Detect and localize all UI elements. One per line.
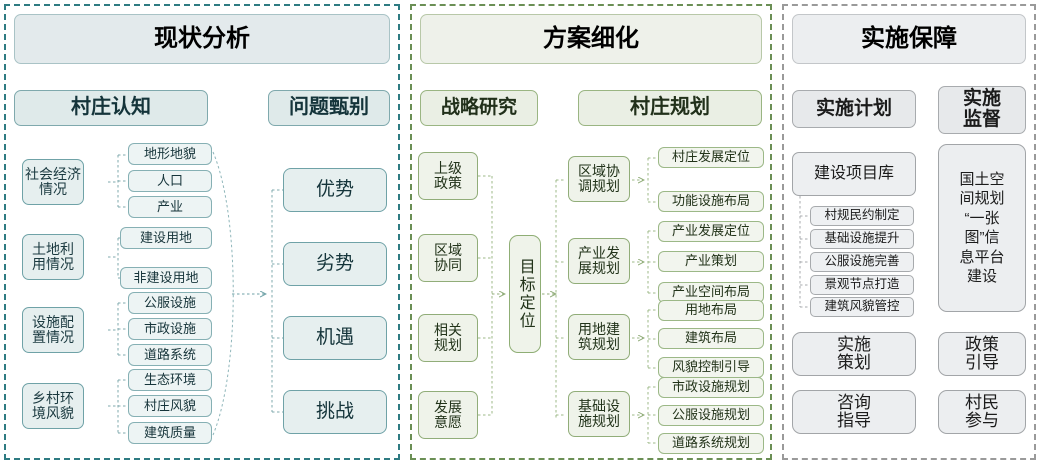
leaf-building-quality[interactable]: 建筑质量	[128, 422, 212, 444]
action-consulting-guidance[interactable]: 咨询 指导	[792, 390, 916, 434]
section-heading-strategy-research: 战略研究	[420, 90, 538, 126]
column-title-plan-refinement: 方案细化	[420, 14, 762, 64]
leaf-municipal-facility-planning[interactable]: 市政设施规划	[658, 377, 764, 398]
diagram-canvas: 现状分析 村庄认知 问题甄别 社会经济 情况 土地利 用情况 设施配 置情况 乡…	[0, 0, 1040, 467]
input-related-planning[interactable]: 相关 规划	[418, 314, 478, 362]
planning-regional-coordination[interactable]: 区域协 调规划	[568, 156, 630, 202]
outcome-challenge[interactable]: 挑战	[283, 390, 387, 434]
leaf-municipal-facility[interactable]: 市政设施	[128, 318, 212, 340]
root-construction-project-library[interactable]: 建设项目库	[792, 152, 916, 196]
category-land-use[interactable]: 土地利 用情况	[22, 234, 84, 280]
section-heading-village-planning: 村庄规划	[578, 90, 762, 126]
leaf-landscape-node-creation[interactable]: 景观节点打造	[810, 275, 914, 295]
outcome-weakness[interactable]: 劣势	[283, 242, 387, 286]
category-social-economy[interactable]: 社会经济 情况	[22, 159, 84, 205]
leaf-road-system-planning[interactable]: 道路系统规划	[658, 433, 764, 454]
hub-target-positioning[interactable]: 目标定位	[509, 235, 541, 353]
leaf-functional-facility-layout[interactable]: 功能设施布局	[658, 191, 764, 212]
category-rural-environment[interactable]: 乡村环 境风貌	[22, 383, 84, 429]
section-heading-implementation-supervision: 实施 监督	[938, 86, 1026, 134]
leaf-road-system[interactable]: 道路系统	[128, 344, 212, 366]
planning-industry-development[interactable]: 产业发 展规划	[568, 238, 630, 284]
leaf-public-service-facility[interactable]: 公服设施	[128, 292, 212, 314]
leaf-ecological-environment[interactable]: 生态环境	[128, 369, 212, 391]
leaf-non-construction-land[interactable]: 非建设用地	[120, 267, 212, 289]
input-regional-coordination[interactable]: 区域 协同	[418, 234, 478, 282]
leaf-building-layout[interactable]: 建筑布局	[658, 328, 764, 349]
action-policy-guidance[interactable]: 政策 引导	[938, 332, 1026, 376]
leaf-village-regulations[interactable]: 村规民约制定	[810, 206, 914, 226]
input-superior-policy[interactable]: 上级 政策	[418, 152, 478, 200]
column-title-implementation-assurance: 实施保障	[792, 14, 1026, 64]
leaf-appearance-control-guidance[interactable]: 风貌控制引导	[658, 357, 764, 378]
leaf-public-service-improvement[interactable]: 公服设施完善	[810, 252, 914, 272]
outcome-opportunity[interactable]: 机遇	[283, 316, 387, 360]
planning-land-building[interactable]: 用地建 筑规划	[568, 314, 630, 360]
leaf-building-appearance-control[interactable]: 建筑风貌管控	[810, 297, 914, 317]
section-heading-implementation-plan: 实施计划	[792, 90, 916, 128]
section-heading-problem-identification: 问题甄别	[268, 90, 390, 126]
column-title-current-situation-analysis: 现状分析	[14, 14, 390, 64]
leaf-land-layout[interactable]: 用地布局	[658, 300, 764, 321]
section-heading-village-cognition: 村庄认知	[14, 90, 208, 126]
leaf-terrain[interactable]: 地形地貌	[128, 143, 212, 165]
leaf-industry[interactable]: 产业	[128, 196, 212, 218]
leaf-public-service-facility-planning[interactable]: 公服设施规划	[658, 405, 764, 426]
platform-territorial-spatial-planning[interactable]: 国土空 间规划 “一张 图”信 息平台 建设	[938, 144, 1026, 312]
outcome-strength[interactable]: 优势	[283, 168, 387, 212]
input-development-will[interactable]: 发展 意愿	[418, 391, 478, 439]
leaf-village-development-positioning[interactable]: 村庄发展定位	[658, 147, 764, 168]
leaf-industry-planning[interactable]: 产业策划	[658, 251, 764, 272]
leaf-construction-land[interactable]: 建设用地	[120, 227, 212, 249]
leaf-population[interactable]: 人口	[128, 170, 212, 192]
leaf-infrastructure-upgrade[interactable]: 基础设施提升	[810, 229, 914, 249]
action-villager-participation[interactable]: 村民 参与	[938, 390, 1026, 434]
leaf-industry-development-positioning[interactable]: 产业发展定位	[658, 221, 764, 242]
action-implementation-strategy[interactable]: 实施 策划	[792, 332, 916, 376]
category-facility-allocation[interactable]: 设施配 置情况	[22, 307, 84, 353]
planning-infrastructure[interactable]: 基础设 施规划	[568, 391, 630, 437]
leaf-village-appearance[interactable]: 村庄风貌	[128, 395, 212, 417]
